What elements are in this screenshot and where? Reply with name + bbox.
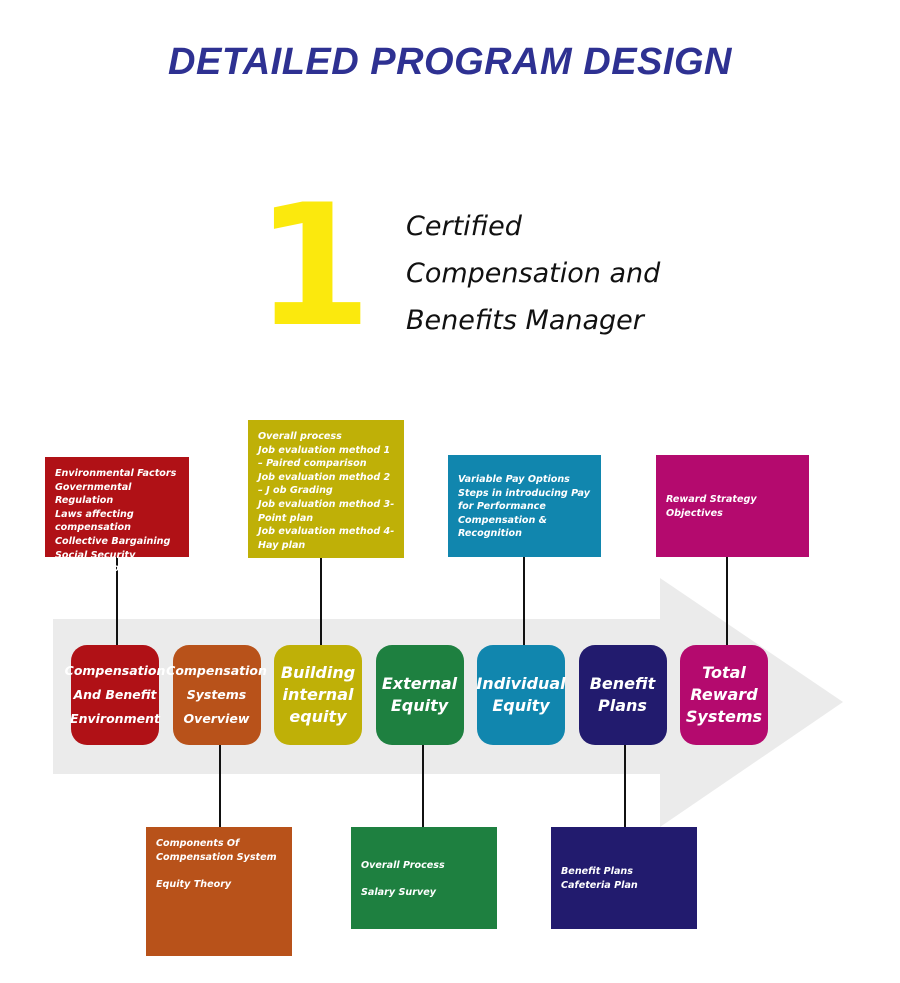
- hero-subtitle-line-2: Compensation and: [406, 250, 726, 297]
- chain-box-building-internal-equity[interactable]: Buildinginternalequity: [274, 645, 362, 745]
- chain-box-label: Overview: [184, 707, 250, 731]
- chain-box-label: And Benefit: [73, 683, 156, 707]
- detail-box-overall-process-salary-survey: Overall Process Salary Survey: [351, 827, 497, 929]
- connector-variablepay-to-chain5: [523, 556, 525, 646]
- chain-box-label: Plans: [598, 695, 647, 717]
- chain-box-external-equity[interactable]: ExternalEquity: [376, 645, 464, 745]
- hero-subtitle: Certified Compensation and Benefits Mana…: [406, 203, 726, 344]
- detail-box-reward-strategy: Reward Strategy Objectives: [656, 455, 809, 557]
- hero-subtitle-line-1: Certified: [406, 203, 726, 250]
- detail-box-environmental-factors: Environmental Factors Governmental Regul…: [45, 457, 189, 557]
- chain-box-label: Individual: [476, 673, 565, 695]
- connector-chain6-to-benefitplans: [624, 744, 626, 828]
- chain-box-label: Building: [281, 662, 355, 684]
- page-title: DETAILED PROGRAM DESIGN: [0, 41, 900, 84]
- detail-box-variable-pay: Variable Pay Options Steps in introducin…: [448, 455, 601, 557]
- chain-box-label: Systems: [686, 706, 762, 728]
- diagram-canvas: DETAILED PROGRAM DESIGN 1 Certified Comp…: [0, 0, 900, 983]
- hero-number-1: 1: [255, 182, 365, 350]
- chain-box-label: Systems: [187, 683, 247, 707]
- chain-box-label: Compensation: [166, 659, 267, 683]
- connector-reward-to-chain7: [726, 556, 728, 646]
- chain-box-label: External: [382, 673, 457, 695]
- chain-box-label: Reward: [690, 684, 757, 706]
- chain-box-label: Environment: [70, 707, 160, 731]
- detail-box-job-evaluation-methods: Overall process Job evaluation method 1 …: [248, 420, 404, 558]
- chain-box-label: Compensation: [65, 659, 166, 683]
- detail-box-benefit-plans-cafeteria: Benefit Plans Cafeteria Plan: [551, 827, 697, 929]
- chain-box-label: internal: [283, 684, 354, 706]
- chain-box-label: Equity: [391, 695, 448, 717]
- connector-chain4-to-overallprocess: [422, 744, 424, 828]
- chain-box-label: Benefit: [590, 673, 656, 695]
- detail-box-components-of-compensation-system: Components Of Compensation System Equity…: [146, 827, 292, 956]
- chain-box-label: Equity: [492, 695, 549, 717]
- chain-box-total-reward-systems[interactable]: TotalRewardSystems: [680, 645, 768, 745]
- chain-box-individual-equity[interactable]: IndividualEquity: [477, 645, 565, 745]
- hero-subtitle-line-3: Benefits Manager: [406, 297, 726, 344]
- connector-jobeval-to-chain3: [320, 557, 322, 646]
- chain-box-label: equity: [289, 706, 346, 728]
- connector-chain2-to-components: [219, 744, 221, 828]
- chain-box-benefit-plans[interactable]: BenefitPlans: [579, 645, 667, 745]
- chain-box-compensation-and-benefit-environment[interactable]: CompensationAnd BenefitEnvironment: [71, 645, 159, 745]
- chain-box-label: Total: [702, 662, 746, 684]
- chain-box-compensation-systems-overview[interactable]: CompensationSystemsOverview: [173, 645, 261, 745]
